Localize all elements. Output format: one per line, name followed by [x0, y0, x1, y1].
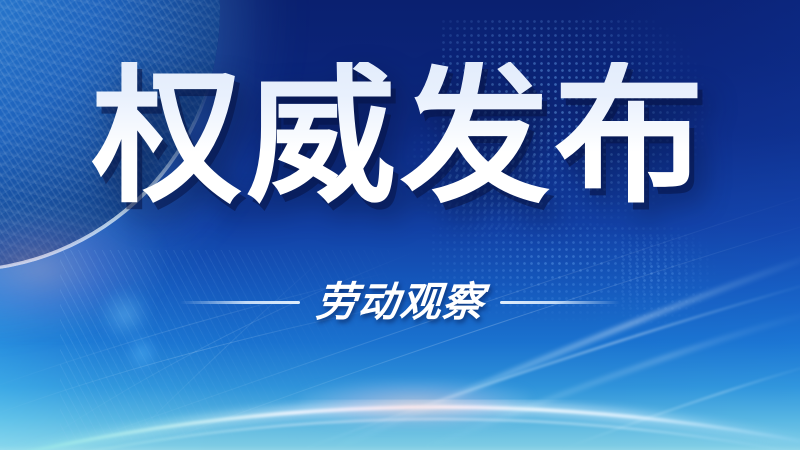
title-block: 权威发布 [0, 62, 800, 212]
brand-subtitle: 劳动观察 [314, 282, 486, 323]
divider-rule-left [180, 301, 300, 304]
subtitle-block: 劳动观察 [0, 282, 800, 323]
page-title: 权威发布 [92, 62, 708, 212]
divider-rule-right [500, 301, 620, 304]
horizon-arc-highlight [300, 380, 530, 426]
authoritative-release-banner: 权威发布 劳动观察 [0, 0, 800, 450]
